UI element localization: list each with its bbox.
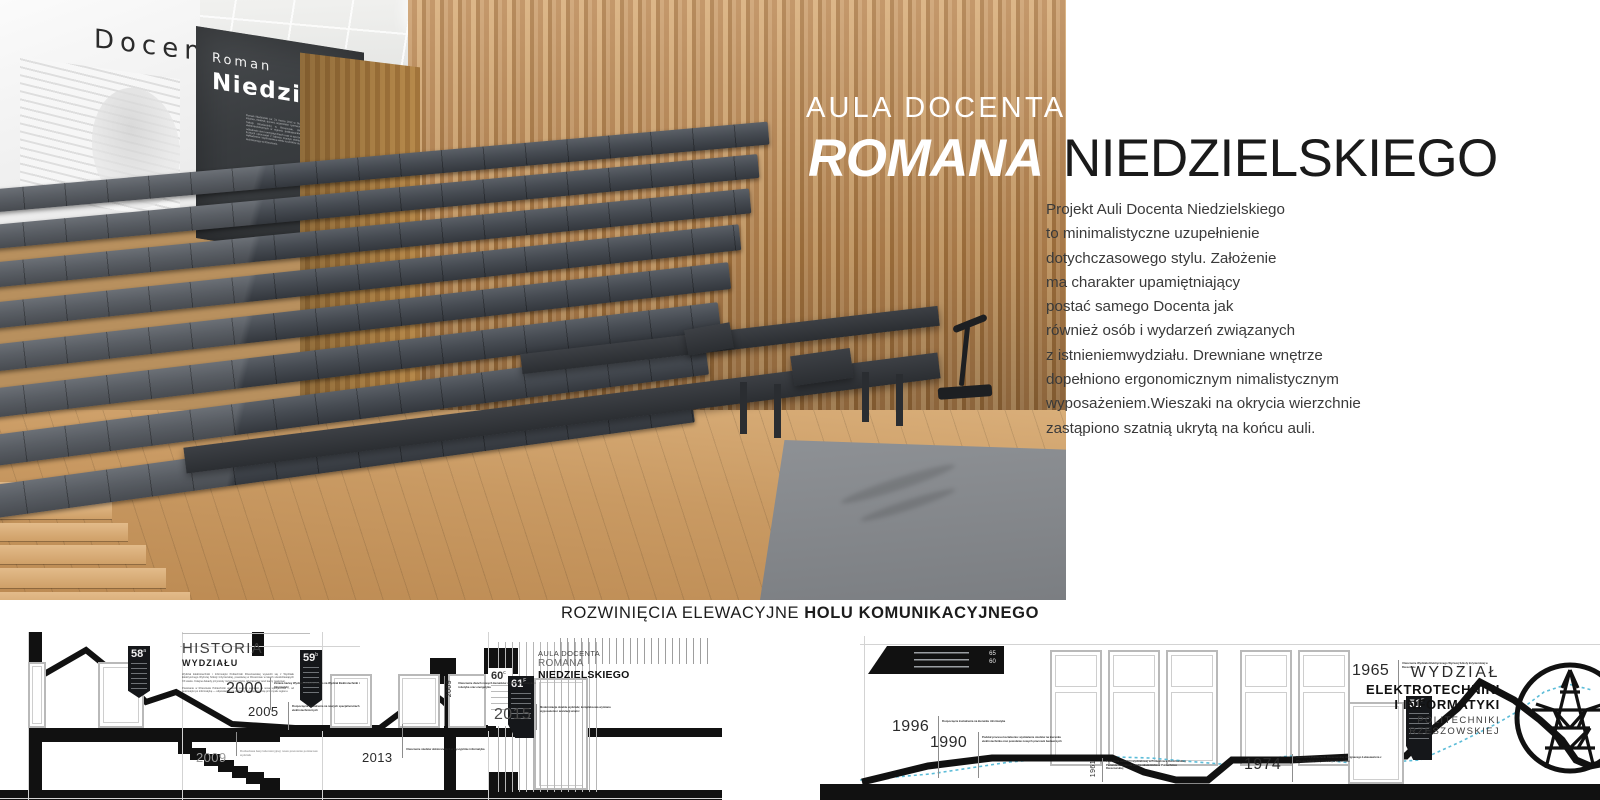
tag-lines bbox=[131, 663, 147, 689]
room-number: 60c bbox=[491, 670, 506, 682]
elevations-header: ROZWINIĘCIA ELEWACYJNE HOLU KOMUNIKACYJN… bbox=[0, 604, 1600, 632]
stage-platform bbox=[760, 440, 1066, 600]
tag-lines bbox=[303, 667, 319, 693]
timeline-note: Powołanie struktury wydziałowej w Polite… bbox=[1106, 760, 1192, 771]
step bbox=[0, 523, 128, 541]
timeline-note: Utworzenie dwóch nowych kierunków studió… bbox=[458, 682, 544, 689]
timeline-note: Rozpoczęcie kształcenia na kierunku info… bbox=[942, 720, 1028, 724]
desk-leg bbox=[774, 384, 781, 438]
room-tag: 59b bbox=[300, 650, 322, 708]
timeline-tick bbox=[444, 676, 445, 726]
aula-label-line2: ROMANA bbox=[538, 658, 629, 669]
timeline-note: Rozbudowa bazy laboratoryjnej; nowe prac… bbox=[240, 750, 326, 757]
faculty-line5: RZESZOWSKIEJ bbox=[1220, 726, 1500, 737]
title-rest: NIEDZIELSKIEGO bbox=[1063, 128, 1498, 189]
faculty-line2: ELEKTROTECHNIKI bbox=[1220, 682, 1500, 697]
timeline-tick bbox=[288, 702, 289, 730]
room-tag: 58a bbox=[128, 646, 150, 698]
presentation-board: Docent Roman Niedzielski Roman Niedziels… bbox=[0, 0, 1600, 800]
step bbox=[0, 545, 146, 564]
description-text: Projekt Auli Docenta Niedzielskiego to m… bbox=[1046, 198, 1402, 441]
aula-label-line3: NIEDZIELSKIEGO bbox=[538, 670, 629, 682]
timeline-note: Utworzenie studiów doktoranckich w dyscy… bbox=[406, 748, 492, 752]
divider bbox=[182, 633, 310, 634]
timeline-note: Rozpoczęcie kształcenia na nowych specja… bbox=[292, 705, 378, 712]
faculty-lockup: WYDZIAŁ ELEKTROTECHNIKI I INFORMATYKI PO… bbox=[1220, 664, 1500, 737]
faculty-line3: I INFORMATYKI bbox=[1220, 697, 1500, 712]
timeline-year: 2000 bbox=[226, 680, 263, 698]
faculty-line4: POLITECHNIKI bbox=[1220, 715, 1500, 726]
faculty-line1: WYDZIAŁ bbox=[1220, 664, 1500, 682]
door-leaf bbox=[402, 678, 436, 724]
timeline-tick bbox=[978, 732, 979, 778]
desk-leg bbox=[740, 382, 747, 434]
transmission-tower-logo-icon bbox=[1510, 658, 1600, 778]
room-number: 59b bbox=[303, 652, 318, 664]
room-number: 58a bbox=[131, 648, 146, 660]
desk-leg bbox=[862, 372, 869, 422]
auditorium-photo: Docent Roman Niedzielski Roman Niedziels… bbox=[0, 0, 1066, 600]
timeline-year-vertical: 2009 bbox=[446, 680, 453, 697]
elevations-header-bold: HOLU KOMUNIKACYJNEGO bbox=[804, 604, 1039, 622]
timeline-year: 1996 bbox=[892, 718, 929, 736]
timeline-year: 2015 bbox=[494, 706, 531, 724]
timeline-year: 1974 bbox=[1244, 756, 1281, 774]
timeline-note: Modernizacja obiektu wydziału; komplekso… bbox=[540, 706, 626, 713]
timeline-note: Podział procesu kształcenia: wydzielenie… bbox=[982, 736, 1068, 743]
door-leaf bbox=[32, 666, 42, 724]
desk-leg bbox=[896, 374, 903, 426]
history-subtitle: WYDZIAŁU bbox=[182, 658, 294, 668]
timeline-tick bbox=[402, 724, 403, 758]
elevations-header-light: ROZWINIĘCIA ELEWACYJNE bbox=[561, 604, 804, 622]
timeline-note: Zmiana nazwy Wydziału Elektrycznego na W… bbox=[274, 682, 360, 689]
step bbox=[0, 568, 166, 588]
timeline-year: 1990 bbox=[930, 734, 967, 752]
step bbox=[0, 592, 190, 600]
timeline-year: 2013 bbox=[362, 750, 393, 765]
timeline-tick bbox=[1102, 758, 1103, 782]
timeline-tick bbox=[236, 732, 237, 756]
elevation-left: 58a 59b 60c 61F AULA DOCENTA ROMANA NIED… bbox=[0, 632, 722, 800]
history-title: HISTORIA bbox=[182, 640, 294, 657]
elevation-right: 65 60 51F 19 bbox=[820, 632, 1600, 800]
description-paragraph: Projekt Auli Docenta Niedzielskiego to m… bbox=[1046, 198, 1402, 441]
aula-label: AULA DOCENTA ROMANA NIEDZIELSKIEGO bbox=[538, 650, 629, 681]
timeline-note: Utworzenie Politechniki Rzeszowskiej im.… bbox=[1296, 756, 1382, 763]
timeline-year: 2009 bbox=[196, 750, 227, 765]
timeline-tick bbox=[1292, 754, 1293, 782]
timeline-year: 2005 bbox=[248, 704, 279, 719]
timeline-tick bbox=[536, 704, 537, 730]
aula-label-line1: AULA DOCENTA bbox=[538, 650, 629, 658]
timeline-year-vertical: 1961 bbox=[1090, 760, 1097, 777]
